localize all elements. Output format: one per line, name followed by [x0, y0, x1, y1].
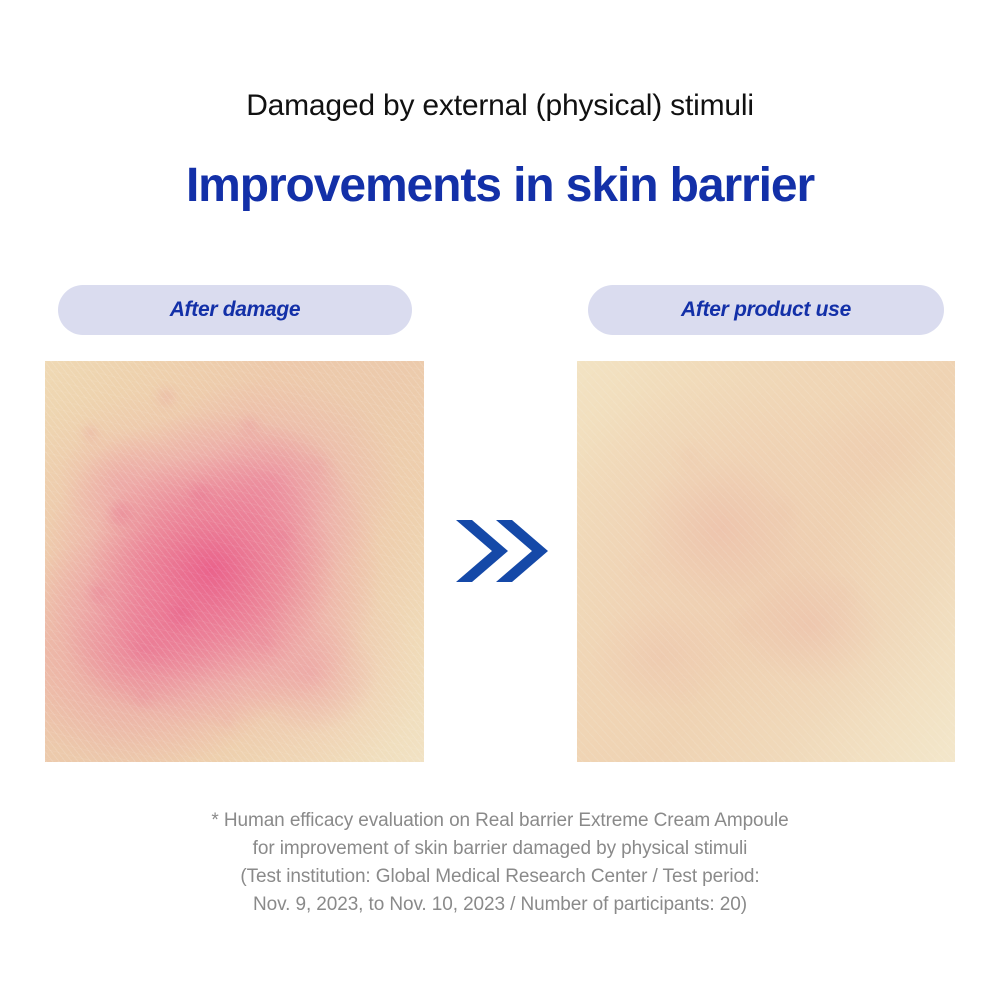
- after-skin-texture: [577, 361, 955, 762]
- before-skin-texture: [45, 361, 424, 762]
- after-label-pill: After product use: [588, 285, 944, 335]
- after-label-text: After product use: [681, 298, 851, 322]
- promo-panel: Damaged by external (physical) stimuli I…: [0, 0, 1000, 1000]
- eyebrow-text: Damaged by external (physical) stimuli: [0, 88, 1000, 124]
- footnote-line-4: Nov. 9, 2023, to Nov. 10, 2023 / Number …: [0, 891, 1000, 919]
- double-chevron-right-icon: [452, 512, 548, 590]
- footnote: * Human efficacy evaluation on Real barr…: [0, 807, 1000, 919]
- page-title: Improvements in skin barrier: [0, 158, 1000, 215]
- footnote-line-3: (Test institution: Global Medical Resear…: [0, 863, 1000, 891]
- after-photo: [577, 361, 955, 762]
- before-photo: [45, 361, 424, 762]
- footnote-line-1: * Human efficacy evaluation on Real barr…: [0, 807, 1000, 835]
- footnote-line-2: for improvement of skin barrier damaged …: [0, 835, 1000, 863]
- before-label-text: After damage: [170, 298, 301, 322]
- before-label-pill: After damage: [58, 285, 412, 335]
